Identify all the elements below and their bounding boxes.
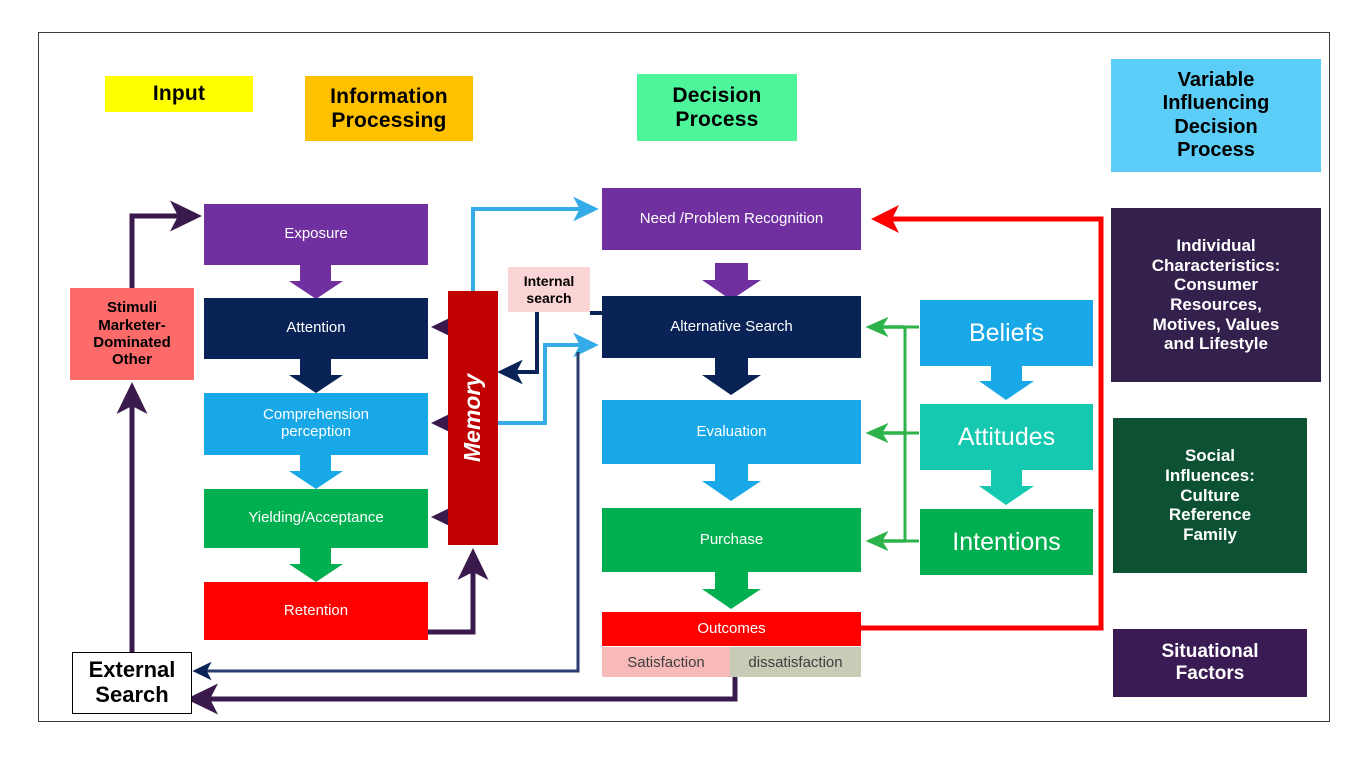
flow-box-attitudes: Attitudes	[920, 404, 1093, 470]
flow-box-attention: Attention	[204, 298, 428, 359]
flow-box-beliefs: Beliefs	[920, 300, 1093, 366]
flow-box-comprehension-perception: Comprehension perception	[204, 393, 428, 455]
panel-situational-factors: Situational Factors	[1113, 629, 1307, 697]
panel-social-influences: Social Influences: Culture Reference Fam…	[1113, 418, 1307, 573]
header-information-processing: Information Processing	[305, 76, 473, 141]
outcome-satisfaction: Satisfaction	[602, 647, 730, 677]
memory-box: Memory	[448, 291, 498, 545]
flow-box-yielding-acceptance: Yielding/Acceptance	[204, 489, 428, 548]
internal-search-box: Internal search	[508, 267, 590, 312]
flow-box-exposure: Exposure	[204, 204, 428, 265]
panel-variable-influencing-decision-process: Variable Influencing Decision Process	[1111, 59, 1321, 172]
diagram-canvas: Input Information Processing Decision Pr…	[0, 0, 1366, 768]
memory-label: Memory	[460, 374, 486, 462]
flow-box-retention: Retention	[204, 582, 428, 640]
external-search-box: External Search	[72, 652, 192, 714]
flow-box-need-problem-recognition: Need /Problem Recognition	[602, 188, 861, 250]
flow-box-evaluation: Evaluation	[602, 400, 861, 464]
flow-box-outcomes: Outcomes	[602, 612, 861, 646]
stimuli-box: Stimuli Marketer- Dominated Other	[70, 288, 194, 380]
flow-box-alternative-search: Alternative Search	[602, 296, 861, 358]
header-decision-process: Decision Process	[637, 74, 797, 141]
panel-individual-characteristics: Individual Characteristics: Consumer Res…	[1111, 208, 1321, 382]
flow-box-intentions: Intentions	[920, 509, 1093, 575]
flow-box-purchase: Purchase	[602, 508, 861, 572]
outcome-dissatisfaction: dissatisfaction	[730, 647, 861, 677]
header-input: Input	[105, 76, 253, 112]
